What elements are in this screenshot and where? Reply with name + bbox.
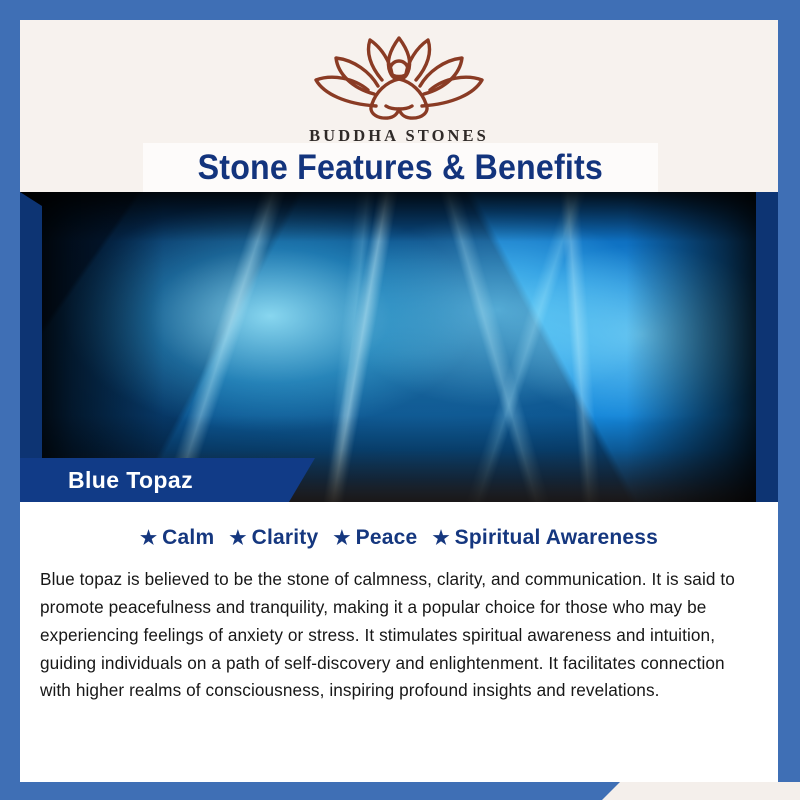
star-icon: ★ xyxy=(140,528,157,549)
stone-photo-image xyxy=(20,192,778,502)
star-icon: ★ xyxy=(229,528,246,549)
title-band: Stone Features & Benefits xyxy=(143,143,658,192)
stone-name-tab: Blue Topaz xyxy=(20,458,315,502)
stone-photo xyxy=(20,192,778,502)
poster: BUDDHA STONES Stone Features & Benefits … xyxy=(0,0,800,800)
feature-item-peace: Peace xyxy=(356,526,418,549)
page-title: Stone Features & Benefits xyxy=(198,148,603,188)
bottom-blue-bar xyxy=(0,782,620,800)
star-icon: ★ xyxy=(333,528,350,549)
lotus-meditation-icon xyxy=(306,32,492,124)
brand-logo: BUDDHA STONES xyxy=(20,32,778,146)
stone-name-label: Blue Topaz xyxy=(68,467,193,494)
photo-left-accent-bar xyxy=(20,192,42,502)
poster-card: BUDDHA STONES Stone Features & Benefits … xyxy=(20,20,778,782)
feature-list: ★Calm ★Clarity ★Peace ★Spiritual Awarene… xyxy=(20,526,778,550)
star-icon: ★ xyxy=(432,528,449,549)
photo-right-accent-bar xyxy=(756,192,778,502)
content-panel: ★Calm ★Clarity ★Peace ★Spiritual Awarene… xyxy=(20,502,778,782)
bottom-cream-wedge xyxy=(600,782,800,800)
photo-layer-vignette xyxy=(20,192,778,502)
header: BUDDHA STONES Stone Features & Benefits xyxy=(20,20,778,192)
stone-description: Blue topaz is believed to be the stone o… xyxy=(40,566,756,705)
feature-item-calm: Calm xyxy=(162,526,214,549)
feature-item-clarity: Clarity xyxy=(252,526,319,549)
feature-item-spiritual: Spiritual Awareness xyxy=(455,526,658,549)
